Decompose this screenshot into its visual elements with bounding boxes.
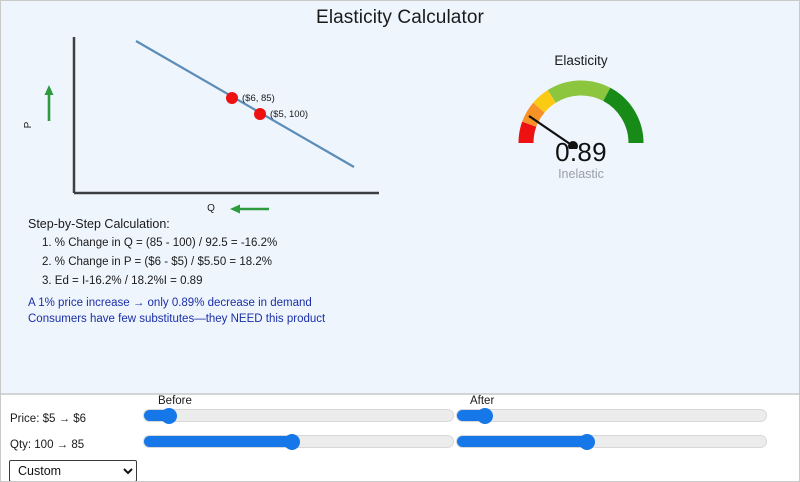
data-point-before[interactable]	[226, 92, 238, 104]
gauge-segment-very-elastic	[607, 94, 636, 143]
quantity-left-arrow-icon	[230, 205, 269, 214]
price-up-arrow-icon	[45, 85, 54, 121]
slider-thumb[interactable]	[579, 434, 595, 450]
elasticity-calculator-app: Elasticity Calculator P Q	[0, 0, 800, 482]
controls-panel: Before After Price: $5 → $6 Qty: 100 → 8…	[1, 395, 799, 481]
data-point-before-label: ($6, 85)	[242, 93, 275, 104]
demand-line	[136, 41, 354, 167]
slider-thumb[interactable]	[477, 408, 493, 424]
quantity-before-slider[interactable]	[143, 435, 454, 448]
quantity-axis-label: Q	[207, 203, 215, 214]
interpretation-line: A 1% price increase → only 0.89% decreas…	[28, 297, 458, 309]
step-item: 3. Ed = I-16.2% / 18.2%I = 0.89	[42, 275, 458, 287]
page-title: Elasticity Calculator	[1, 7, 799, 29]
price-axis-label: P	[23, 121, 34, 128]
gauge-title: Elasticity	[483, 53, 679, 68]
quantity-row-label: Qty: 100 → 85	[10, 439, 84, 451]
gauge-segment-unit	[539, 96, 552, 107]
interpretation-line: Consumers have few substitutes—they NEED…	[28, 313, 458, 325]
price-after-slider[interactable]	[456, 409, 767, 422]
data-point-after-label: ($5, 100)	[270, 109, 308, 120]
visualization-panel: Elasticity Calculator P Q	[1, 1, 799, 395]
preset-select[interactable]: Custom	[9, 460, 137, 482]
price-before-slider[interactable]	[143, 409, 454, 422]
demand-curve-chart: P Q ($6, 85) ($5, 100)	[21, 29, 401, 221]
price-row-label: Price: $5 → $6	[10, 413, 86, 425]
data-point-after[interactable]	[254, 108, 266, 120]
column-header-before: Before	[158, 395, 192, 407]
gauge-value: 0.89	[483, 137, 679, 168]
slider-fill	[144, 436, 292, 447]
slider-thumb[interactable]	[161, 408, 177, 424]
step-by-step-calculation: Step-by-Step Calculation: 1. % Change in…	[28, 217, 458, 329]
slider-fill	[457, 436, 587, 447]
column-header-after: After	[470, 395, 494, 407]
interpretation-block: A 1% price increase → only 0.89% decreas…	[28, 297, 458, 325]
steps-heading: Step-by-Step Calculation:	[28, 217, 458, 231]
step-item: 2. % Change in P = ($6 - $5) / $5.50 = 1…	[42, 256, 458, 268]
gauge-status-label: Inelastic	[483, 167, 679, 181]
step-item: 1. % Change in Q = (85 - 100) / 92.5 = -…	[42, 237, 458, 249]
elasticity-gauge: Elasticity 0.8	[483, 53, 679, 189]
quantity-after-slider[interactable]	[456, 435, 767, 448]
gauge-segment-elastic	[552, 88, 607, 96]
slider-thumb[interactable]	[284, 434, 300, 450]
